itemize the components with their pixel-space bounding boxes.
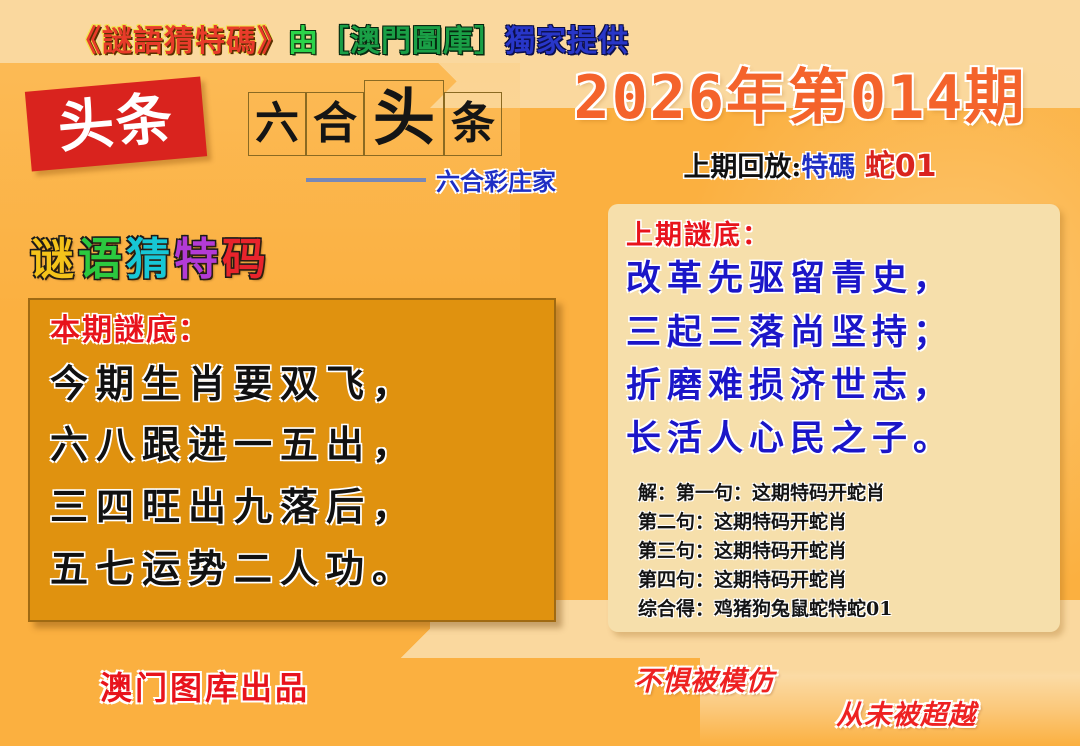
logo-tile-1: 六 (248, 92, 306, 156)
poster-canvas: 《謎語猜特碼》由［澳門圖庫］獨家提供 头条 六 合 头 条 六合彩庄家 2026… (0, 0, 1080, 746)
logo-badge[interactable]: 头条 (25, 76, 207, 171)
riddle-title-char-5: 码 (222, 234, 270, 285)
logo-subline: 六合彩庄家 (306, 162, 556, 197)
previous-draw-recap: 上期回放:特碼 蛇01 (560, 152, 1060, 182)
explanation-line-5: 综合得：鸡猪狗兔鼠蛇特蛇01 (638, 595, 1044, 624)
previous-answer-panel: 上期謎底： 改革先驱留青史， 三起三落尚坚持； 折磨难损济世志， 长活人心民之子… (608, 204, 1060, 632)
current-answer-lines: 今期生肖要双飞， 六八跟进一五出， 三四旺出九落后， 五七运势二人功。 (50, 353, 536, 601)
current-answer-line-2: 六八跟进一五出， (50, 414, 536, 476)
logo-badge-label: 头条 (56, 91, 176, 157)
previous-answer-line-2: 三起三落尚坚持； (626, 306, 1044, 359)
explanation-line-1: 解：第一句：这期特码开蛇肖 (638, 479, 1044, 508)
previous-answer-line-3: 折磨难损济世志， (626, 359, 1044, 412)
header-segment-title: 《謎語猜特碼》 (71, 16, 288, 60)
logo-tiles: 六 合 头 条 (248, 80, 502, 156)
current-answer-panel: 本期謎底： 今期生肖要双飞， 六八跟进一五出， 三四旺出九落后， 五七运势二人功… (28, 298, 556, 622)
header-segment-exclusive: 獨家提供 (505, 16, 629, 60)
current-answer-line-3: 三四旺出九落后， (50, 476, 536, 538)
previous-answer-label: 上期謎底： (626, 220, 1044, 252)
header-tagline: 《謎語猜特碼》由［澳門圖庫］獨家提供 (0, 16, 700, 60)
riddle-title-char-3: 猜 (126, 234, 174, 285)
current-answer-line-4: 五七运势二人功。 (50, 538, 536, 600)
riddle-title-char-1: 谜 (30, 234, 78, 285)
footer-slogan-primary: 不惧被模仿 (634, 668, 774, 695)
riddle-section-title: 谜语猜特码 (30, 238, 270, 282)
current-answer-label: 本期謎底： (50, 314, 536, 349)
subline-rule (306, 178, 426, 182)
recap-label: 上期回放: (683, 152, 801, 183)
recap-key: 特碼 (801, 152, 855, 183)
recap-value: 蛇01 (865, 149, 937, 184)
riddle-title-char-2: 语 (78, 234, 126, 285)
logo-tile-3: 头 (364, 80, 444, 156)
subline-label: 六合彩庄家 (436, 162, 556, 197)
header-segment-source: ［澳門圖庫］ (319, 16, 505, 60)
previous-answer-lines: 改革先驱留青史， 三起三落尚坚持； 折磨难损济世志， 长活人心民之子。 (626, 252, 1044, 465)
riddle-title-char-4: 特 (174, 234, 222, 285)
previous-answer-line-1: 改革先驱留青史， (626, 252, 1044, 305)
footer-slogan-secondary: 从未被超越 (836, 702, 976, 729)
explanation-line-3: 第三句：这期特码开蛇肖 (638, 537, 1044, 566)
explanation-line-4: 第四句：这期特码开蛇肖 (638, 566, 1044, 595)
logo-tile-4: 条 (444, 92, 502, 156)
previous-answer-line-4: 长活人心民之子。 (626, 412, 1044, 465)
logo-tile-2: 合 (306, 92, 364, 156)
explanation-line-2: 第二句：这期特码开蛇肖 (638, 508, 1044, 537)
header-segment-by: 由 (288, 16, 319, 60)
footer-brand: 澳门图库出品 (100, 672, 310, 704)
current-answer-line-1: 今期生肖要双飞， (50, 353, 536, 415)
explanation-block: 解：第一句：这期特码开蛇肖 第二句：这期特码开蛇肖 第三句：这期特码开蛇肖 第四… (626, 479, 1044, 623)
issue-title: 2026年第014期 (540, 68, 1060, 128)
